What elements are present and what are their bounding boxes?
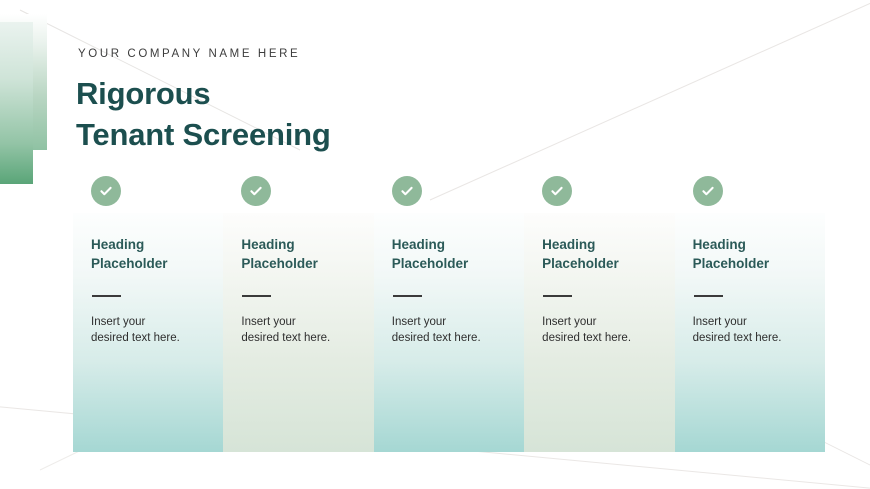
card-body-text: Insert your desired text here.: [91, 314, 205, 347]
check-badge-row: [73, 175, 825, 207]
card-heading: Heading Placeholder: [693, 235, 807, 273]
card-body-text: Insert your desired text here.: [693, 314, 807, 347]
card-divider: [242, 295, 271, 297]
content-card[interactable]: Heading Placeholder Insert your desired …: [374, 213, 524, 452]
check-glyph-icon: [98, 183, 114, 199]
card-body-text: Insert your desired text here.: [241, 314, 355, 347]
check-circle-icon: [693, 176, 723, 206]
card-body-text: Insert your desired text here.: [542, 314, 656, 347]
slide-canvas: SlideModel .com YOUR COMPANY NAME HERE R…: [0, 0, 870, 489]
card-divider: [694, 295, 723, 297]
content-card[interactable]: Heading Placeholder Insert your desired …: [73, 213, 223, 452]
card-heading: Heading Placeholder: [542, 235, 656, 273]
content-card[interactable]: Heading Placeholder Insert your desired …: [524, 213, 674, 452]
card-divider: [92, 295, 121, 297]
check-circle-icon: [392, 176, 422, 206]
content-card[interactable]: Heading Placeholder Insert your desired …: [223, 213, 373, 452]
content-card[interactable]: Heading Placeholder Insert your desired …: [675, 213, 825, 452]
card-heading: Heading Placeholder: [241, 235, 355, 273]
card-divider: [543, 295, 572, 297]
check-slot: [675, 175, 825, 207]
check-glyph-icon: [549, 183, 565, 199]
check-slot: [374, 175, 524, 207]
check-glyph-icon: [700, 183, 716, 199]
check-slot: [223, 175, 373, 207]
card-body-text: Insert your desired text here.: [392, 314, 506, 347]
card-heading: Heading Placeholder: [91, 235, 205, 273]
decorative-bar-narrow: [0, 22, 33, 184]
check-glyph-icon: [248, 183, 264, 199]
card-row: Heading Placeholder Insert your desired …: [73, 213, 825, 452]
check-circle-icon: [91, 176, 121, 206]
check-slot: [524, 175, 674, 207]
check-slot: [73, 175, 223, 207]
company-name-eyebrow: YOUR COMPANY NAME HERE: [78, 48, 300, 60]
card-heading: Heading Placeholder: [392, 235, 506, 273]
check-glyph-icon: [399, 183, 415, 199]
check-circle-icon: [241, 176, 271, 206]
card-divider: [393, 295, 422, 297]
page-title: Rigorous Tenant Screening: [76, 74, 331, 156]
check-circle-icon: [542, 176, 572, 206]
